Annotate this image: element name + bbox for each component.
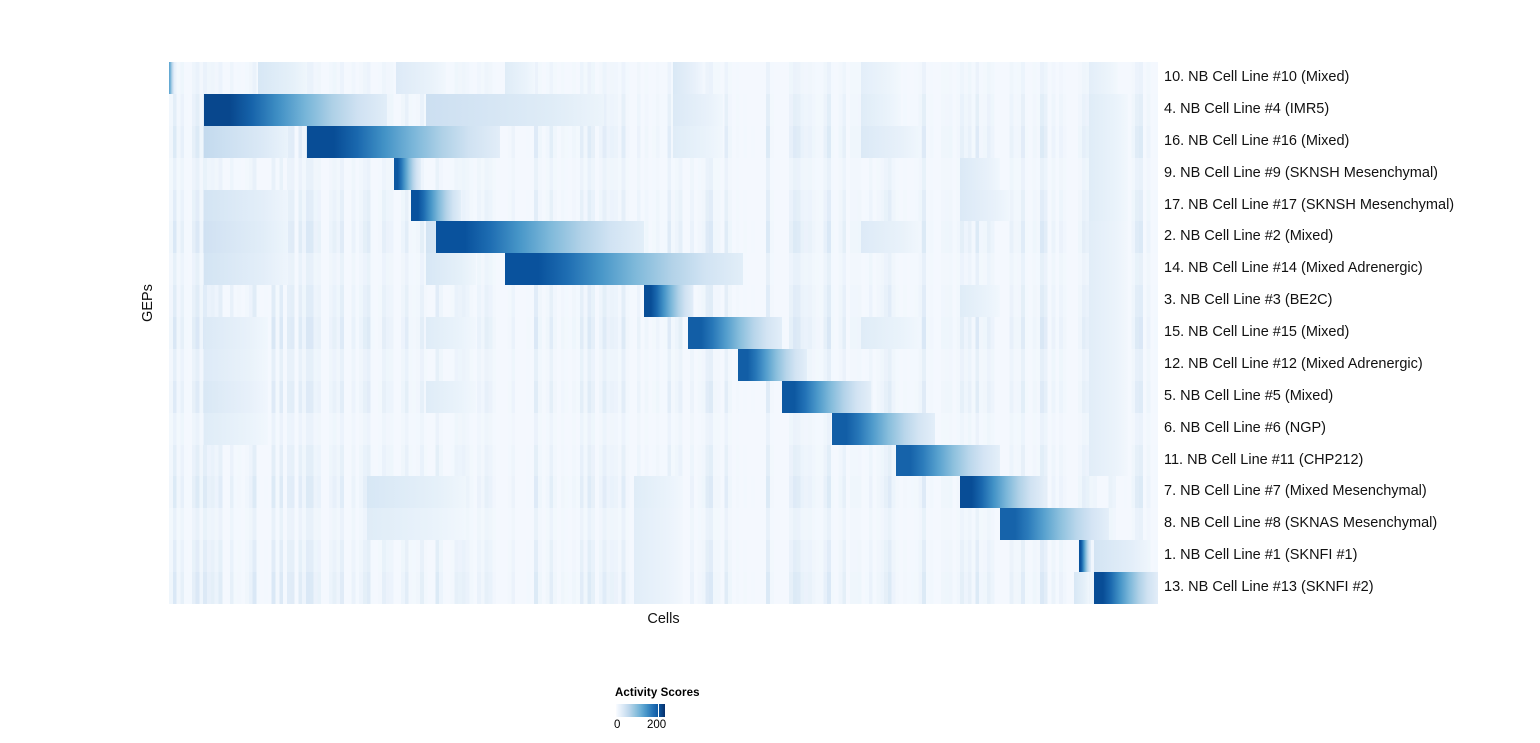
heatmap-figure: GEPs Cells 10. NB Cell Line #10 (Mixed)4… [0, 0, 1540, 743]
heatmap-row [169, 94, 1158, 126]
heatmap-row-halo [673, 62, 703, 94]
heatmap-row-halo [1089, 413, 1129, 445]
gep-row-label: 9. NB Cell Line #9 (SKNSH Mesenchymal) [1164, 158, 1438, 190]
heatmap-row-halo [204, 126, 288, 158]
heatmap-row-column-noise [169, 190, 1158, 222]
colorbar-gradient-wrap [615, 704, 665, 717]
heatmap-row-halo [258, 62, 307, 94]
heatmap-row-halo [861, 221, 920, 253]
heatmap-row-halo [204, 253, 288, 285]
heatmap-activity-block [960, 476, 1044, 508]
heatmap-activity-block [505, 253, 742, 285]
heatmap-row-column-noise [169, 62, 1158, 94]
x-axis-title: Cells [169, 611, 1158, 627]
heatmap-activity-block [394, 158, 421, 190]
heatmap-row-halo [1094, 540, 1148, 572]
gep-row-label: 14. NB Cell Line #14 (Mixed Adrenergic) [1164, 253, 1423, 285]
heatmap-row-halo [861, 126, 920, 158]
heatmap-row-halo [204, 413, 268, 445]
heatmap-row [169, 126, 1158, 158]
gep-row-label: 15. NB Cell Line #15 (Mixed) [1164, 317, 1349, 349]
heatmap-activity-block [436, 221, 644, 253]
heatmap-row-halo [634, 572, 683, 604]
heatmap-activity-block [411, 190, 460, 222]
heatmap-activity-block [169, 62, 175, 94]
heatmap-row-column-noise [169, 445, 1158, 477]
heatmap-row-halo [960, 285, 1000, 317]
gep-row-label: 12. NB Cell Line #12 (Mixed Adrenergic) [1164, 349, 1423, 381]
heatmap-row-halo [204, 381, 268, 413]
heatmap-row-halo [426, 317, 475, 349]
heatmap-row-halo [204, 317, 268, 349]
heatmap-row-halo [1089, 445, 1129, 477]
heatmap-activity-block [204, 94, 387, 126]
heatmap-row-halo [1089, 158, 1129, 190]
heatmap-activity-block [307, 126, 500, 158]
legend-title: Activity Scores [615, 687, 815, 699]
heatmap-activity-block [738, 349, 807, 381]
gep-row-label: 4. NB Cell Line #4 (IMR5) [1164, 94, 1329, 126]
heatmap-row-halo [1089, 221, 1129, 253]
heatmap-activity-block [1094, 572, 1158, 604]
heatmap-row-halo [634, 476, 683, 508]
heatmap-row-halo [1089, 62, 1119, 94]
heatmap-row-halo [1089, 381, 1129, 413]
heatmap-row-halo [861, 62, 901, 94]
heatmap-row-halo [204, 190, 288, 222]
heatmap-row-halo [204, 221, 288, 253]
heatmap-row [169, 349, 1158, 381]
heatmap-row-halo [1089, 190, 1129, 222]
heatmap-activity-block [644, 285, 693, 317]
heatmap-row [169, 285, 1158, 317]
heatmap-plot-area [169, 62, 1158, 604]
gep-row-label-list: 10. NB Cell Line #10 (Mixed)4. NB Cell L… [1164, 62, 1536, 604]
heatmap-row-column-noise [169, 381, 1158, 413]
heatmap-row-column-noise [169, 413, 1158, 445]
heatmap-row-halo [204, 349, 268, 381]
heatmap-activity-block [832, 413, 936, 445]
heatmap-row-halo [634, 540, 683, 572]
gep-row-label: 6. NB Cell Line #6 (NGP) [1164, 413, 1326, 445]
heatmap-row-halo [1089, 349, 1129, 381]
heatmap-row [169, 62, 1158, 94]
heatmap-activity-block [1079, 540, 1091, 572]
gep-row-label: 5. NB Cell Line #5 (Mixed) [1164, 381, 1333, 413]
heatmap-row [169, 476, 1158, 508]
colorbar-ticklabel-max: 200 [647, 719, 666, 731]
heatmap-row-halo [673, 126, 722, 158]
heatmap-row-halo [396, 62, 445, 94]
gep-row-label: 8. NB Cell Line #8 (SKNAS Mesenchymal) [1164, 508, 1437, 540]
heatmap-row [169, 253, 1158, 285]
gep-row-label: 7. NB Cell Line #7 (Mixed Mesenchymal) [1164, 476, 1427, 508]
y-axis-title: GEPs [140, 283, 156, 323]
heatmap-row-halo [673, 94, 722, 126]
gep-row-label: 10. NB Cell Line #10 (Mixed) [1164, 62, 1349, 94]
heatmap-row [169, 190, 1158, 222]
heatmap-row [169, 508, 1158, 540]
heatmap-row-halo [426, 94, 604, 126]
gep-row-label: 1. NB Cell Line #1 (SKNFI #1) [1164, 540, 1357, 572]
gep-row-label: 2. NB Cell Line #2 (Mixed) [1164, 221, 1333, 253]
gep-row-label: 13. NB Cell Line #13 (SKNFI #2) [1164, 572, 1374, 604]
colorbar-legend: Activity Scores 0 200 [615, 687, 815, 735]
colorbar-ticklabel-min: 0 [614, 719, 620, 731]
heatmap-row-halo [861, 94, 901, 126]
heatmap-row-halo [1089, 317, 1129, 349]
gep-row-label: 3. NB Cell Line #3 (BE2C) [1164, 285, 1332, 317]
heatmap-row-halo [426, 253, 475, 285]
heatmap-activity-block [896, 445, 1000, 477]
colorbar-tick-0 [615, 704, 616, 717]
heatmap-row-halo [426, 381, 475, 413]
heatmap-row [169, 381, 1158, 413]
heatmap-row-halo [1074, 572, 1089, 604]
heatmap-row-halo [1089, 253, 1129, 285]
heatmap-row [169, 158, 1158, 190]
heatmap-row [169, 445, 1158, 477]
heatmap-row [169, 221, 1158, 253]
heatmap-activity-block [688, 317, 782, 349]
heatmap-row-halo [634, 508, 683, 540]
heatmap-row [169, 572, 1158, 604]
heatmap-row-halo [960, 158, 1000, 190]
gep-row-label: 11. NB Cell Line #11 (CHP212) [1164, 445, 1363, 477]
gep-row-label: 17. NB Cell Line #17 (SKNSH Mesenchymal) [1164, 190, 1454, 222]
heatmap-row [169, 540, 1158, 572]
heatmap-row-halo [1089, 126, 1129, 158]
heatmap-row-halo [1089, 94, 1129, 126]
heatmap-activity-block [782, 381, 871, 413]
colorbar-tick-200 [658, 704, 659, 717]
heatmap-row-halo [960, 190, 1009, 222]
heatmap-row-halo [861, 317, 920, 349]
heatmap-row-column-noise [169, 317, 1158, 349]
heatmap-row-halo [505, 62, 535, 94]
heatmap-row-halo [367, 476, 466, 508]
heatmap-row-column-noise [169, 221, 1158, 253]
heatmap-row [169, 413, 1158, 445]
heatmap-row-halo [1089, 285, 1129, 317]
colorbar-tick-labels: 0 200 [615, 719, 695, 735]
gep-row-label: 16. NB Cell Line #16 (Mixed) [1164, 126, 1349, 158]
heatmap-row-halo [367, 508, 466, 540]
heatmap-row-column-noise [169, 349, 1158, 381]
heatmap-row-column-noise [169, 158, 1158, 190]
heatmap-activity-block [1000, 508, 1109, 540]
heatmap-row [169, 317, 1158, 349]
